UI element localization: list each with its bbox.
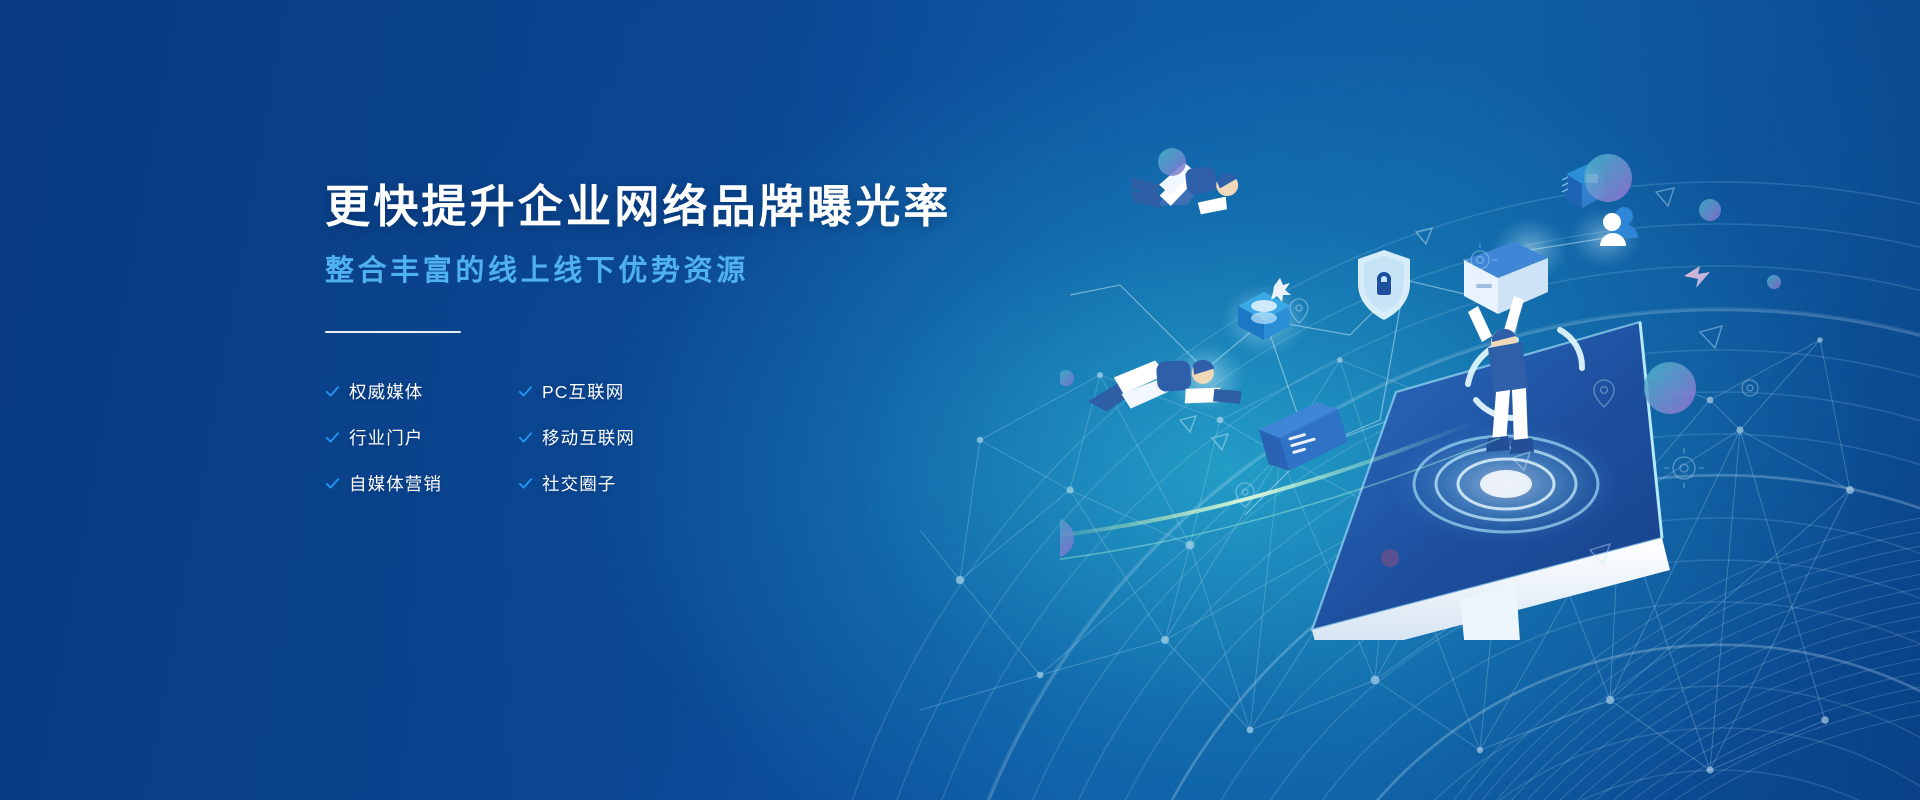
location-pin-icon [1594,380,1614,407]
gradient-sphere [1767,275,1781,289]
feature-label: 移动互联网 [542,425,635,450]
shield-lock-icon [1358,250,1410,320]
divider [325,331,461,333]
arrow-glyph [1684,266,1710,288]
triangle-outline [1700,326,1722,348]
check-icon [325,384,340,399]
check-icon [518,384,533,399]
floating-decorations [1560,150,1920,620]
hero-banner: 更快提升企业网络品牌曝光率 整合丰富的线上线下优势资源 权威媒体 PC互联网 行… [0,0,1920,800]
feature-label: 行业门户 [349,425,423,450]
check-icon [325,476,340,491]
feature-list: 权威媒体 PC互联网 行业门户 移动互联网 自媒体营销 社交圈子 [325,379,1085,496]
feature-item-self-media-marketing: 自媒体营销 [325,471,518,496]
tablet-device [1256,397,1351,475]
gradient-sphere [1699,199,1721,221]
feature-item-pc-internet: PC互联网 [518,379,1085,404]
feature-item-mobile-internet: 移动互联网 [518,425,1085,450]
check-icon [325,430,340,445]
triangle-outline [1590,544,1610,564]
feature-item-social-circle: 社交圈子 [518,471,1085,496]
check-icon [518,476,533,491]
feature-label: 权威媒体 [349,379,423,404]
feature-label: 自媒体营销 [349,471,442,496]
check-icon [518,430,533,445]
gradient-sphere [1644,362,1696,414]
floating-person-upper [1124,138,1247,242]
feature-item-industry-portal: 行业门户 [325,425,518,450]
hero-content: 更快提升企业网络品牌曝光率 整合丰富的线上线下优势资源 权威媒体 PC互联网 行… [325,180,1085,496]
page-subtitle: 整合丰富的线上线下优势资源 [325,253,1085,289]
feature-label: PC互联网 [542,379,624,404]
feature-label: 社交圈子 [542,471,616,496]
feature-item-authoritative-media: 权威媒体 [325,379,518,404]
triangle-outline [1656,188,1674,206]
lifted-box [1464,242,1548,314]
page-title: 更快提升企业网络品牌曝光率 [325,180,1085,235]
gradient-sphere [1584,154,1632,202]
